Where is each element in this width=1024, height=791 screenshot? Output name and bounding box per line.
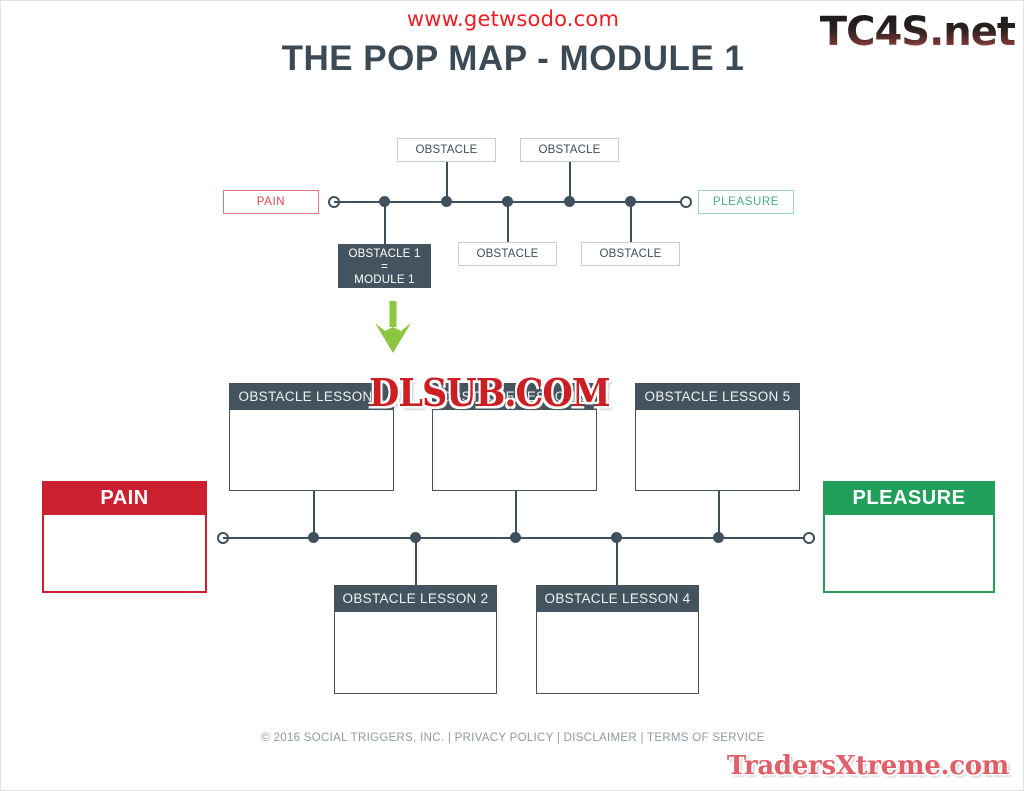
mini-module-line-1: OBSTACLE 1	[338, 248, 431, 261]
tradersxtreme-watermark: TradersXtreme.com	[727, 751, 1009, 781]
pain-card-header: PAIN	[42, 481, 207, 515]
mini-obstacle-below-2: OBSTACLE	[581, 242, 680, 266]
mini-stem-down-3	[630, 201, 632, 243]
main-stem-down-2	[616, 537, 618, 585]
lesson-card-5: OBSTACLE LESSON 5	[635, 383, 800, 491]
mini-obstacle-above-1: OBSTACLE	[397, 138, 496, 162]
pop-map-page: www.getwsodo.com www.getwsodo.com THE PO…	[0, 0, 1024, 791]
lesson-card-2-body	[334, 612, 497, 694]
pain-card-body	[42, 515, 207, 593]
mini-obstacle-module-highlight: OBSTACLE 1 = MODULE 1	[338, 244, 431, 288]
dlsub-watermark: DLSUB.COM	[369, 371, 610, 416]
pleasure-card: PLEASURE	[823, 481, 995, 593]
footer-text: © 2016 SOCIAL TRIGGERS, INC. | PRIVACY P…	[1, 732, 1024, 744]
mini-module-line-2: =	[338, 261, 431, 274]
mini-stem-up-1	[446, 162, 448, 201]
pleasure-card-body	[823, 515, 995, 593]
lesson-card-4: OBSTACLE LESSON 4	[536, 585, 699, 694]
main-stem-up-2	[515, 490, 517, 538]
mini-end-node	[680, 196, 692, 208]
mini-obstacle-below-1: OBSTACLE	[458, 242, 557, 266]
mini-obstacle-above-2: OBSTACLE	[520, 138, 619, 162]
tc4s-brand-logo: TC4S.net	[820, 9, 1015, 55]
down-arrow-icon	[373, 301, 413, 358]
main-stem-up-3	[718, 490, 720, 538]
mini-stem-up-2	[569, 162, 571, 201]
mini-module-line-3: MODULE 1	[338, 274, 431, 287]
lesson-card-1-body	[229, 410, 394, 491]
main-stem-up-1	[313, 490, 315, 538]
lesson-card-2-header: OBSTACLE LESSON 2	[334, 585, 497, 612]
pain-card: PAIN	[42, 481, 207, 593]
lesson-card-3-body	[432, 410, 597, 491]
mini-stem-down-1	[384, 201, 386, 245]
lesson-card-2: OBSTACLE LESSON 2	[334, 585, 497, 694]
getwsodo-watermark-text: www.getwsodo.com	[407, 7, 619, 31]
mini-pleasure-label: PLEASURE	[698, 190, 794, 214]
main-stem-down-1	[415, 537, 417, 585]
mini-pain-label: PAIN	[223, 190, 319, 214]
lesson-card-4-body	[536, 612, 699, 694]
lesson-card-5-body	[635, 410, 800, 491]
lesson-card-5-header: OBSTACLE LESSON 5	[635, 383, 800, 410]
mini-stem-down-2	[507, 201, 509, 243]
pleasure-card-header: PLEASURE	[823, 481, 995, 515]
main-end-node	[803, 532, 815, 544]
lesson-card-4-header: OBSTACLE LESSON 4	[536, 585, 699, 612]
